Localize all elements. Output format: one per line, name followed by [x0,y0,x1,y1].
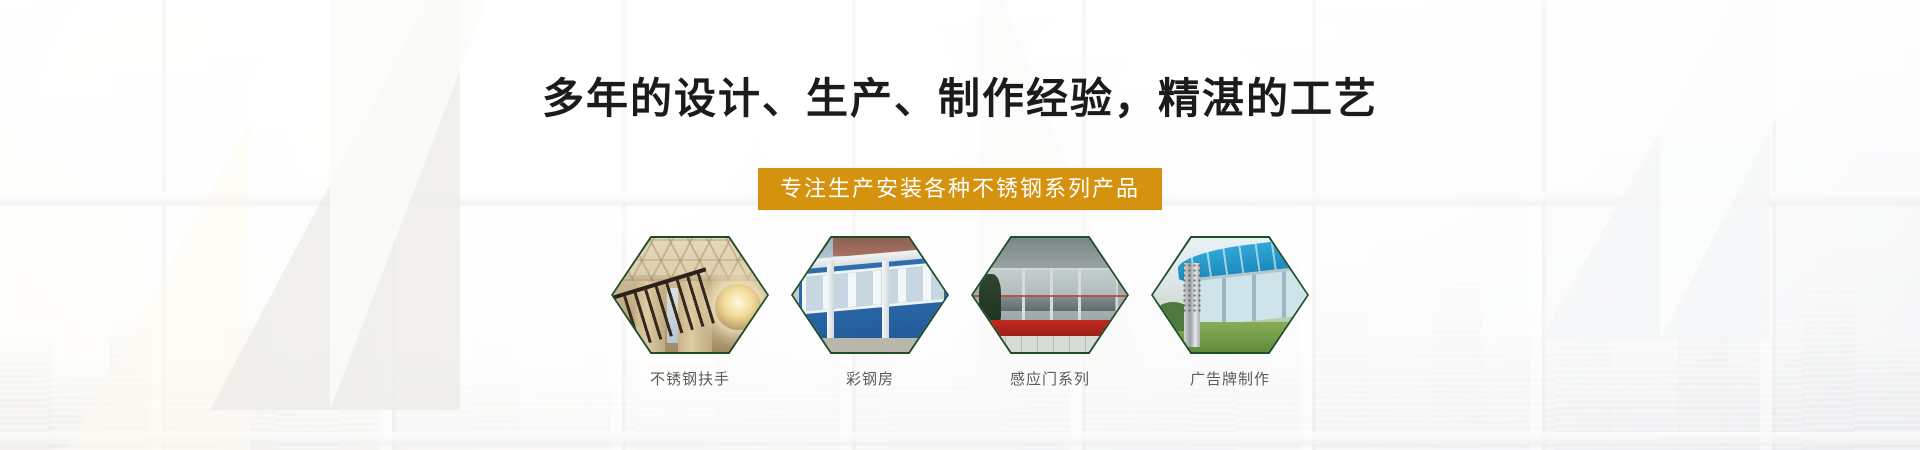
product-card-label: 彩钢房 [791,368,949,389]
product-card-handrail[interactable]: 不锈钢扶手 [611,236,769,389]
hexagon-frame [1151,236,1309,354]
banner-headline: 多年的设计、生产、制作经验，精湛的工艺 [0,74,1920,124]
product-card-list: 不锈钢扶手 [0,236,1920,389]
product-card-label: 不锈钢扶手 [611,368,769,389]
hexagon-frame [611,236,769,354]
banner-tagline-badge: 专注生产安装各种不锈钢系列产品 [758,168,1162,210]
product-card-color-steel-room[interactable]: 彩钢房 [791,236,949,389]
product-card-sensor-door[interactable]: 感应门系列 [971,236,1129,389]
stainless-steel-handrail-photo [613,238,767,352]
color-steel-room-photo [793,238,947,352]
product-card-label: 感应门系列 [971,368,1129,389]
hexagon-frame [971,236,1129,354]
promo-banner: 多年的设计、生产、制作经验，精湛的工艺 专注生产安装各种不锈钢系列产品 [0,0,1920,450]
hexagon-frame [791,236,949,354]
banner-badge-row: 专注生产安装各种不锈钢系列产品 [0,168,1920,210]
billboard-fabrication-photo [1153,238,1307,352]
banner-content: 多年的设计、生产、制作经验，精湛的工艺 专注生产安装各种不锈钢系列产品 [0,0,1920,450]
product-card-billboard[interactable]: 广告牌制作 [1151,236,1309,389]
automatic-sensor-door-photo [973,238,1127,352]
product-card-label: 广告牌制作 [1151,368,1309,389]
